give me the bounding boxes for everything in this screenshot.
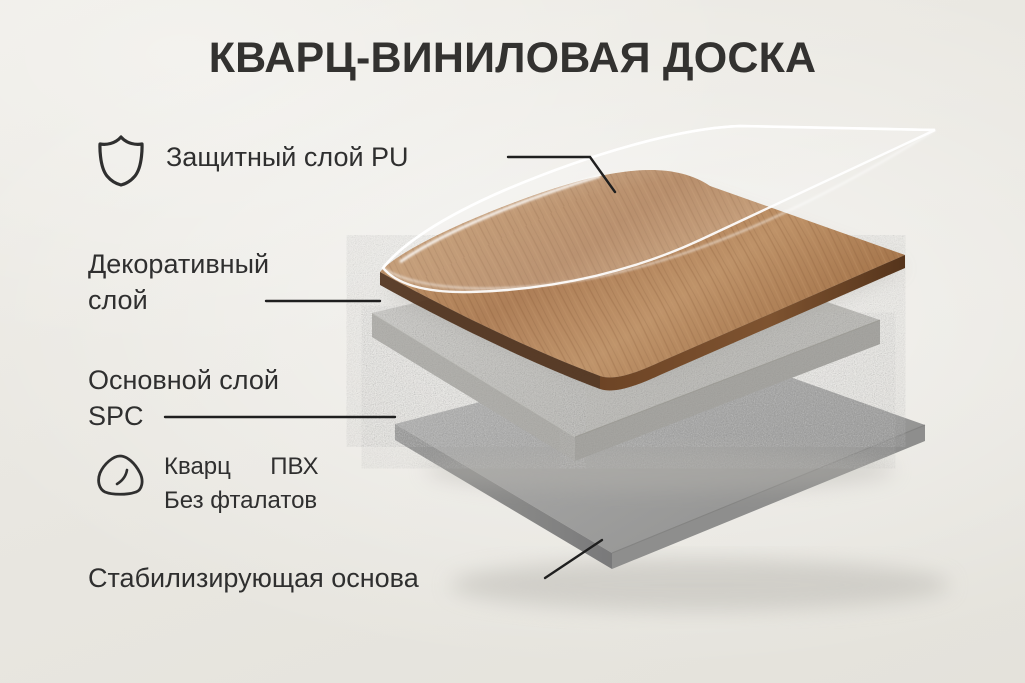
label-pvc: ПВХ bbox=[270, 450, 318, 484]
label-decorative-layer: Декоративный слой bbox=[88, 246, 269, 318]
label-stabilizing-base-text: Стабилизирующая основа bbox=[88, 560, 419, 596]
label-core-layer-line1: Основной слой bbox=[88, 362, 279, 398]
infographic-page: КВАРЦ-ВИНИЛОВАЯ ДОСКА Защитный слой PU Д… bbox=[0, 0, 1025, 683]
label-quartz-pvc-row: Кварц ПВХ bbox=[164, 450, 318, 484]
label-quartz: Кварц bbox=[164, 450, 231, 484]
shield-icon bbox=[94, 132, 148, 195]
stone-icon bbox=[94, 452, 148, 503]
label-core-layer: Основной слой SPC bbox=[88, 362, 279, 434]
label-decorative-layer-line1: Декоративный bbox=[88, 246, 269, 282]
label-quartz-pvc: Кварц ПВХ Без фталатов bbox=[164, 450, 318, 518]
label-protective-layer-text: Защитный слой PU bbox=[166, 139, 409, 175]
page-title: КВАРЦ-ВИНИЛОВАЯ ДОСКА bbox=[0, 34, 1025, 83]
leader-line-pu bbox=[508, 157, 615, 192]
label-stabilizing-base: Стабилизирующая основа bbox=[88, 560, 419, 596]
label-protective-layer: Защитный слой PU bbox=[166, 139, 409, 175]
leader-line-base bbox=[545, 540, 602, 578]
label-decorative-layer-line2: слой bbox=[88, 282, 269, 318]
label-core-layer-line2: SPC bbox=[88, 398, 279, 434]
label-no-phthalates: Без фталатов bbox=[164, 484, 318, 518]
